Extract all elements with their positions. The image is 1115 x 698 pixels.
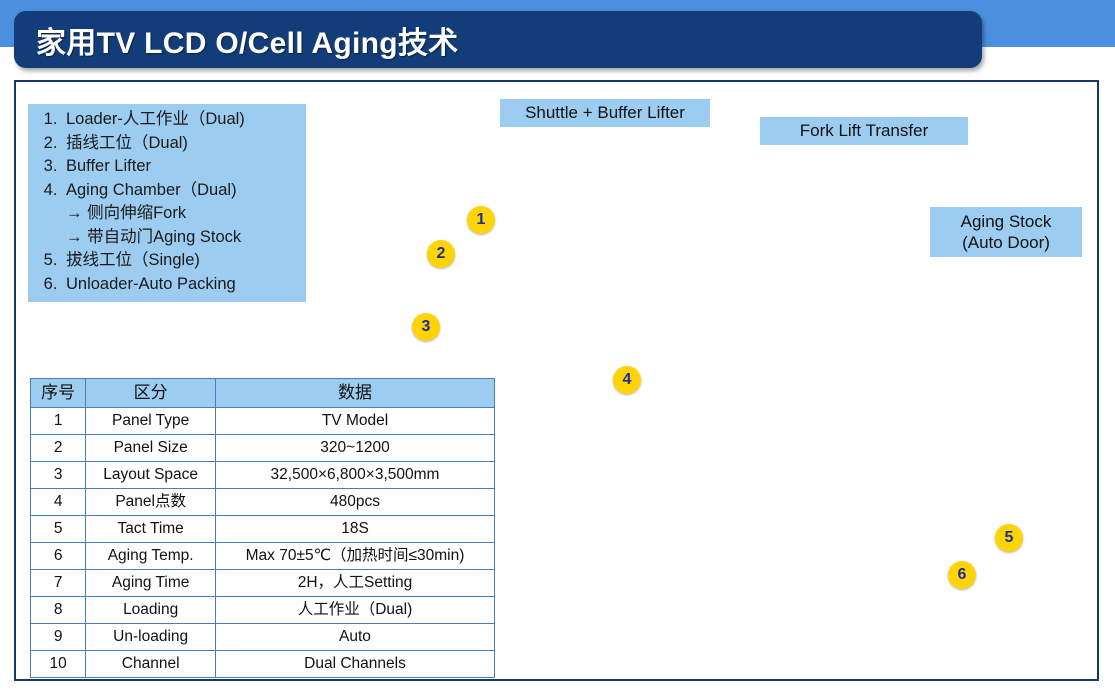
callout-fork-lift-transfer: Fork Lift Transfer — [760, 117, 968, 145]
table-row: 7Aging Time2H，人工Setting — [31, 570, 495, 597]
step-marker-5: 5 — [995, 524, 1023, 552]
cell-value: Dual Channels — [216, 651, 495, 678]
list-item: 拔线工位（Single) — [62, 249, 300, 273]
cell-category: Panel点数 — [86, 489, 216, 516]
cell-value: TV Model — [216, 408, 495, 435]
step-marker-1: 1 — [467, 206, 495, 234]
cell-value: Max 70±5℃（加热时间≤30min) — [216, 543, 495, 570]
cell-value: 320~1200 — [216, 435, 495, 462]
process-step-list: Loader-人工作业（Dual) 插线工位（Dual) Buffer Lift… — [28, 104, 306, 302]
table-body: 1Panel TypeTV Model2Panel Size320~12003L… — [31, 408, 495, 678]
cell-no: 10 — [31, 651, 86, 678]
cell-category: Tact Time — [86, 516, 216, 543]
list-item: 插线工位（Dual) — [62, 132, 300, 156]
process-step-ordered-list: Loader-人工作业（Dual) 插线工位（Dual) Buffer Lift… — [32, 108, 300, 296]
step-marker-4: 4 — [613, 366, 641, 394]
table-header-no: 序号 — [31, 379, 86, 408]
table-row: 4Panel点数480pcs — [31, 489, 495, 516]
table-row: 8Loading人工作业（Dual) — [31, 597, 495, 624]
table-row: 1Panel TypeTV Model — [31, 408, 495, 435]
cell-category: Aging Time — [86, 570, 216, 597]
slide-title-bar: 家用TV LCD O/Cell Aging技术 — [14, 11, 982, 68]
cell-category: Un-loading — [86, 624, 216, 651]
list-item: Aging Chamber（Dual) — [62, 179, 300, 203]
cell-no: 2 — [31, 435, 86, 462]
cell-category: Aging Temp. — [86, 543, 216, 570]
step-marker-3: 3 — [412, 313, 440, 341]
table-row: 6Aging Temp.Max 70±5℃（加热时间≤30min) — [31, 543, 495, 570]
step-marker-2: 2 — [427, 240, 455, 268]
list-item: Unloader-Auto Packing — [62, 273, 300, 297]
cell-category: Panel Type — [86, 408, 216, 435]
cell-value: 人工作业（Dual) — [216, 597, 495, 624]
page-title: 家用TV LCD O/Cell Aging技术 — [36, 18, 458, 62]
cell-category: Panel Size — [86, 435, 216, 462]
cell-value: 2H，人工Setting — [216, 570, 495, 597]
spec-table: 序号 区分 数据 1Panel TypeTV Model2Panel Size3… — [30, 378, 495, 678]
cell-category: Loading — [86, 597, 216, 624]
cell-no: 8 — [31, 597, 86, 624]
cell-value: 480pcs — [216, 489, 495, 516]
cell-value: 18S — [216, 516, 495, 543]
table-row: 5Tact Time18S — [31, 516, 495, 543]
callout-aging-stock: Aging Stock (Auto Door) — [930, 207, 1082, 257]
step-marker-6: 6 — [948, 561, 976, 589]
cell-no: 3 — [31, 462, 86, 489]
table-row: 10ChannelDual Channels — [31, 651, 495, 678]
list-sub-item: → 带自动门Aging Stock — [62, 226, 300, 250]
callout-shuttle-buffer-lifter: Shuttle + Buffer Lifter — [500, 99, 710, 127]
list-item: Loader-人工作业（Dual) — [62, 108, 300, 132]
cell-category: Layout Space — [86, 462, 216, 489]
table-row: 9Un-loadingAuto — [31, 624, 495, 651]
table-header-val: 数据 — [216, 379, 495, 408]
slide-root: 家用TV LCD O/Cell Aging技术 Loader-人工作业（Dual… — [0, 0, 1115, 698]
cell-no: 6 — [31, 543, 86, 570]
cell-value: Auto — [216, 624, 495, 651]
table-row: 2Panel Size320~1200 — [31, 435, 495, 462]
cell-no: 9 — [31, 624, 86, 651]
list-item: Buffer Lifter — [62, 155, 300, 179]
cell-value: 32,500×6,800×3,500mm — [216, 462, 495, 489]
cell-category: Channel — [86, 651, 216, 678]
cell-no: 5 — [31, 516, 86, 543]
cell-no: 1 — [31, 408, 86, 435]
cell-no: 7 — [31, 570, 86, 597]
table-header-cat: 区分 — [86, 379, 216, 408]
list-sub-item: → 侧向伸缩Fork — [62, 202, 300, 226]
table-row: 3Layout Space32,500×6,800×3,500mm — [31, 462, 495, 489]
table-header-row: 序号 区分 数据 — [31, 379, 495, 408]
cell-no: 4 — [31, 489, 86, 516]
